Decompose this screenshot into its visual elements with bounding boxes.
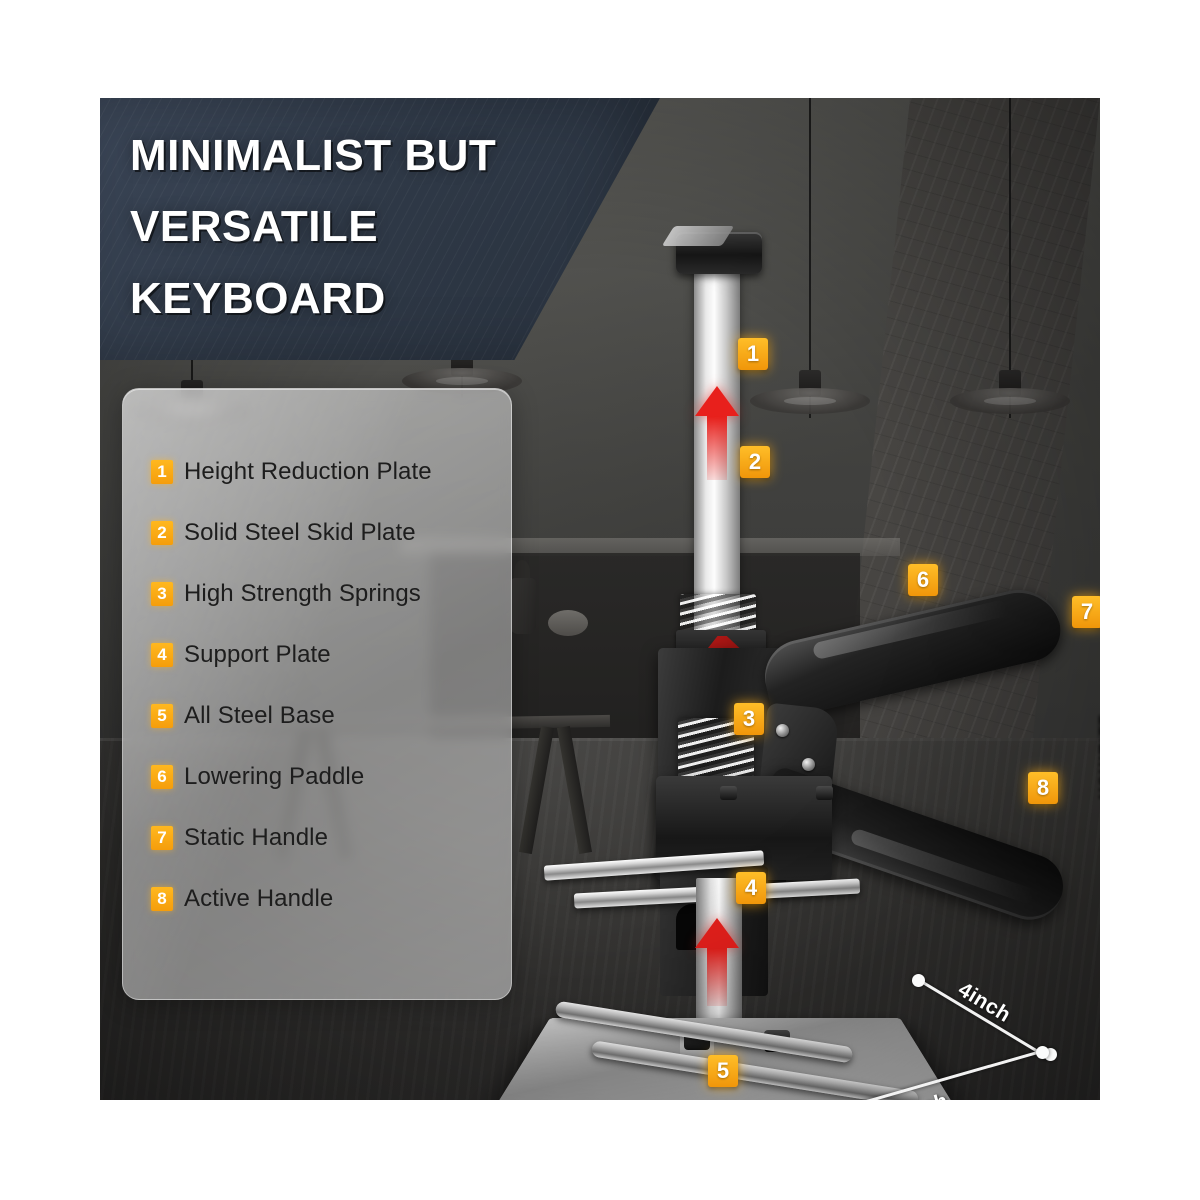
product-arm-lifting-jack	[530, 218, 1050, 1098]
legend-badge-5: 5	[151, 704, 173, 728]
pivot-screw	[776, 724, 789, 737]
arrow-head	[695, 918, 739, 948]
legend-badge-2: 2	[151, 521, 173, 545]
legend-item-3: 3 High Strength Springs	[151, 563, 491, 624]
legend-badge-3: 3	[151, 582, 173, 606]
legend-label-1: Height Reduction Plate	[184, 458, 432, 486]
legend-label-4: Support Plate	[184, 641, 331, 669]
legend-item-4: 4 Support Plate	[151, 624, 491, 685]
legend-item-7: 7 Static Handle	[151, 807, 491, 868]
callout-2: 2	[740, 446, 770, 478]
headline-line-2: VERSATILE	[130, 191, 600, 262]
legend-list: 1 Height Reduction Plate 2 Solid Steel S…	[151, 441, 491, 929]
legend-badge-7: 7	[151, 826, 173, 850]
legend-badge-4: 4	[151, 643, 173, 667]
callout-7: 7	[1072, 596, 1100, 628]
callout-4: 4	[736, 872, 766, 904]
headline-line-3: KEYBOARD	[130, 263, 600, 334]
height-reduction-plate	[676, 232, 762, 274]
body-bolt	[816, 786, 833, 800]
legend-item-5: 5 All Steel Base	[151, 685, 491, 746]
legend-panel: 1 Height Reduction Plate 2 Solid Steel S…	[122, 388, 512, 1000]
legend-item-1: 1 Height Reduction Plate	[151, 441, 491, 502]
legend-item-8: 8 Active Handle	[151, 868, 491, 929]
legend-label-6: Lowering Paddle	[184, 763, 364, 791]
body-bolt	[720, 786, 737, 800]
arrow-stem	[707, 416, 727, 480]
headline-line-1: MINIMALIST BUT	[130, 120, 600, 191]
up-arrow-icon	[695, 918, 739, 1006]
dimension-label-height: 11.2inch	[1094, 713, 1100, 799]
static-handle	[758, 581, 1067, 721]
up-arrow-icon	[695, 386, 739, 480]
legend-badge-6: 6	[151, 765, 173, 789]
legend-item-6: 6 Lowering Paddle	[151, 746, 491, 807]
arrow-head	[695, 386, 739, 416]
legend-badge-1: 1	[151, 460, 173, 484]
legend-label-8: Active Handle	[184, 885, 333, 913]
legend-label-3: High Strength Springs	[184, 580, 421, 608]
legend-item-2: 2 Solid Steel Skid Plate	[151, 502, 491, 563]
callout-1: 1	[738, 338, 768, 370]
infographic-canvas: 1 2 3 4 5 6 7 8 11.2inch 4inch 4.6inch M…	[0, 0, 1200, 1200]
headline: MINIMALIST BUT VERSATILE KEYBOARD	[130, 120, 600, 334]
legend-label-5: All Steel Base	[184, 702, 335, 730]
legend-label-7: Static Handle	[184, 824, 328, 852]
legend-badge-8: 8	[151, 887, 173, 911]
legend-label-2: Solid Steel Skid Plate	[184, 519, 416, 547]
product-photo: 1 2 3 4 5 6 7 8 11.2inch 4inch 4.6inch M…	[100, 98, 1100, 1100]
callout-3: 3	[734, 703, 764, 735]
callout-5: 5	[708, 1055, 738, 1087]
callout-8: 8	[1028, 772, 1058, 804]
dimension-endpoint-icon	[912, 974, 925, 987]
callout-6: 6	[908, 564, 938, 596]
arrow-stem	[707, 948, 727, 1006]
pivot-screw	[802, 758, 815, 771]
dimension-endpoint-icon	[1036, 1046, 1049, 1059]
